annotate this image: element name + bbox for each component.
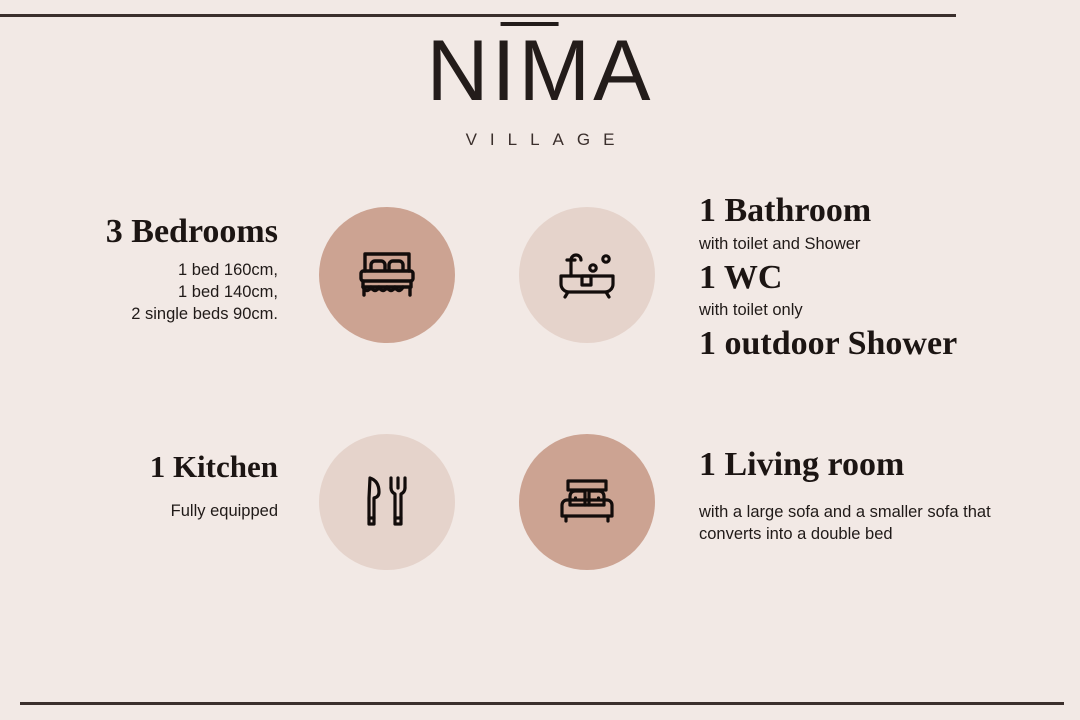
brand-tagline: VILLAGE bbox=[0, 130, 1080, 150]
feature-text-bedrooms: 3 Bedrooms 1 bed 160cm, 1 bed 140cm, 2 s… bbox=[0, 214, 278, 326]
feature-title-kitchen: 1 Kitchen bbox=[0, 450, 278, 483]
brand-logo: NIMA VILLAGE bbox=[0, 28, 1080, 150]
sofa-icon bbox=[558, 478, 616, 526]
feature-title-living-room: 1 Living room bbox=[699, 447, 1059, 484]
feature-text-living-room: 1 Living room with a large sofa and a sm… bbox=[699, 447, 1059, 546]
feature-detail-bedrooms-3: 2 single beds 90cm. bbox=[0, 304, 278, 326]
feature-detail-bathroom: with toilet and Shower bbox=[699, 234, 1069, 256]
feature-title-bedrooms: 3 Bedrooms bbox=[0, 214, 278, 251]
cutlery-icon bbox=[364, 474, 410, 530]
feature-icon-circle-bathroom bbox=[519, 207, 655, 343]
macron-icon bbox=[501, 22, 559, 26]
bathtub-icon bbox=[557, 248, 617, 302]
feature-detail-bedrooms-2: 1 bed 140cm, bbox=[0, 282, 278, 304]
feature-text-kitchen: 1 Kitchen Fully equipped bbox=[0, 450, 278, 523]
feature-detail-kitchen: Fully equipped bbox=[0, 501, 278, 523]
brand-name: NIMA bbox=[427, 28, 654, 114]
feature-icon-circle-kitchen bbox=[319, 434, 455, 570]
feature-title-bathroom: 1 Bathroom bbox=[699, 193, 1069, 230]
feature-detail-bedrooms-1: 1 bed 160cm, bbox=[0, 260, 278, 282]
feature-icon-circle-bedrooms bbox=[319, 207, 455, 343]
feature-detail-living-room-2: converts into a double bed bbox=[699, 524, 1059, 546]
feature-title-wc: 1 WC bbox=[699, 260, 1069, 297]
top-divider-rule bbox=[0, 14, 956, 17]
feature-detail-wc: with toilet only bbox=[699, 300, 1069, 322]
logo-mark: NIMA bbox=[427, 28, 654, 114]
feature-text-bathroom: 1 Bathroom with toilet and Shower 1 WC w… bbox=[699, 193, 1069, 363]
feature-icon-circle-living-room bbox=[519, 434, 655, 570]
feature-detail-living-room-1: with a large sofa and a smaller sofa tha… bbox=[699, 502, 1059, 524]
bottom-divider-rule bbox=[20, 702, 1064, 705]
bed-icon bbox=[358, 249, 416, 301]
feature-title-outdoor-shower: 1 outdoor Shower bbox=[699, 326, 1069, 363]
property-amenities-card: NIMA VILLAGE 3 Bedrooms 1 bed 160cm, 1 b… bbox=[0, 0, 1080, 720]
